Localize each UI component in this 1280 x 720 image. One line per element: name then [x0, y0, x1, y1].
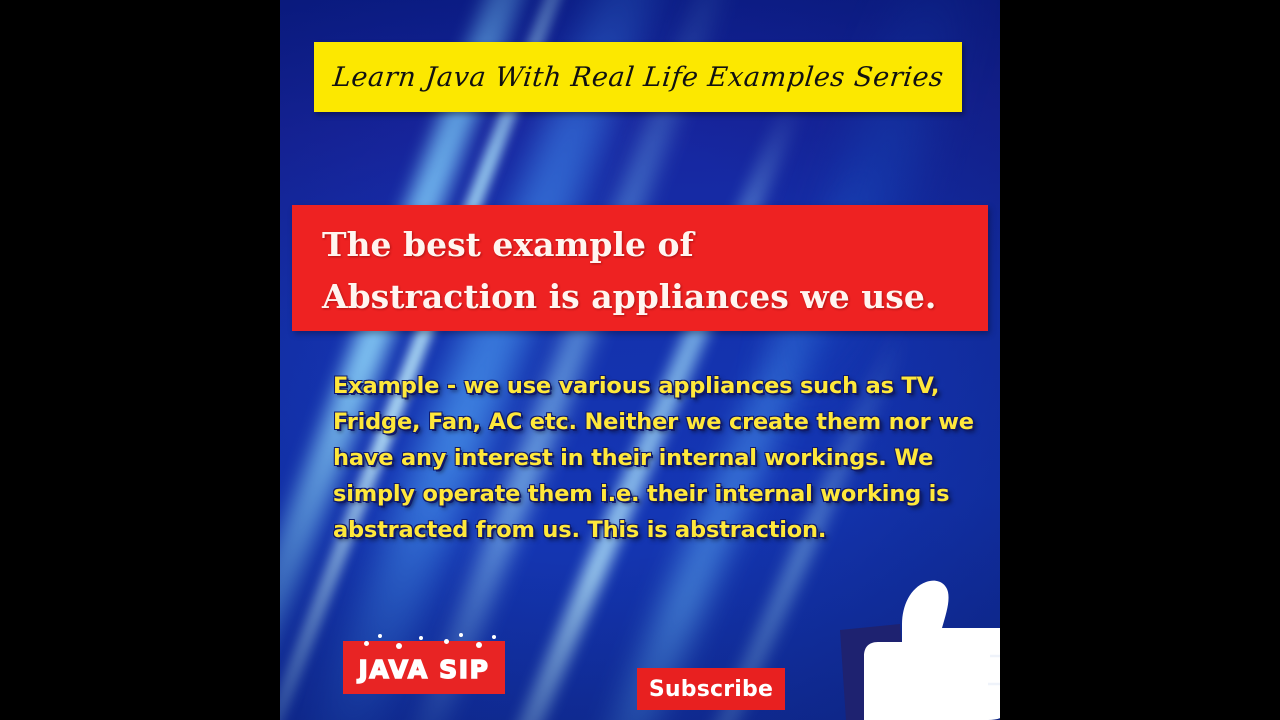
- body-line-5: abstracted from us. This is abstraction.: [333, 512, 973, 548]
- subscribe-button[interactable]: Subscribe: [637, 668, 785, 710]
- headline-line-2: Abstraction is appliances we use.: [322, 271, 988, 323]
- body-line-3: have any interest in their internal work…: [333, 440, 973, 476]
- subscribe-button-label: Subscribe: [649, 677, 773, 702]
- headline-line-1: The best example of: [322, 219, 988, 271]
- body-paragraph: Example - we use various appliances such…: [333, 368, 973, 548]
- sparkle-icon: [396, 643, 402, 649]
- thumbs-up-icon: [838, 578, 1000, 720]
- sparkle-icon: [476, 642, 482, 648]
- letterbox-left: [0, 0, 280, 720]
- body-line-2: Fridge, Fan, AC etc. Neither we create t…: [333, 404, 973, 440]
- java-sip-logo-text: JAVA SIP: [358, 655, 489, 684]
- sparkle-icon: [492, 635, 496, 639]
- java-sip-logo: JAVA SIP: [343, 641, 505, 694]
- series-title-text: Learn Java With Real Life Examples Serie…: [331, 62, 945, 93]
- sparkle-icon: [419, 636, 423, 640]
- sparkle-icon: [378, 634, 382, 638]
- sparkle-icon: [444, 639, 449, 644]
- letterbox-right: [1000, 0, 1280, 720]
- video-frame: Learn Java With Real Life Examples Serie…: [0, 0, 1280, 720]
- headline-box: The best example of Abstraction is appli…: [292, 205, 988, 331]
- body-line-4: simply operate them i.e. their internal …: [333, 476, 973, 512]
- series-title-banner: Learn Java With Real Life Examples Serie…: [314, 42, 962, 112]
- video-content-panel: Learn Java With Real Life Examples Serie…: [280, 0, 1000, 720]
- body-line-1: Example - we use various appliances such…: [333, 368, 973, 404]
- sparkle-icon: [459, 633, 463, 637]
- sparkle-icon: [364, 641, 369, 646]
